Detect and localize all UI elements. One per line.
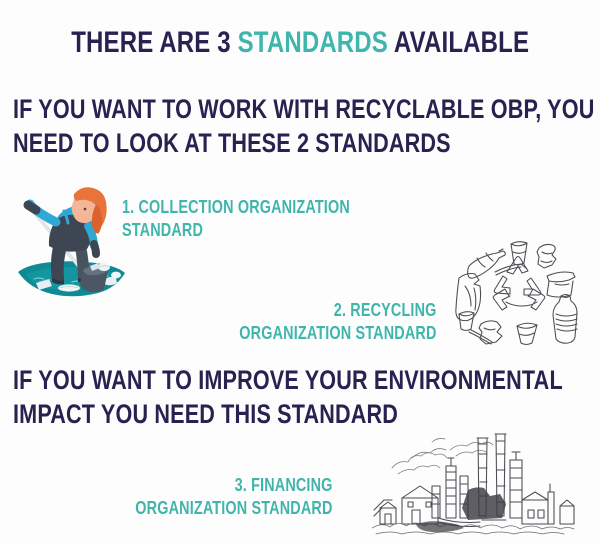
page-title-part2: AVAILABLE <box>388 26 529 59</box>
label-collection-line1: 1. COLLECTION ORGANIZATION <box>122 196 350 219</box>
heading-recyclable-obp: IF YOU WANT TO WORK WITH RECYCLABLE OBP,… <box>13 92 600 160</box>
plastic-tray-sketch <box>547 272 575 297</box>
heading-recyclable-line2: NEED TO LOOK AT THESE 2 STANDARDS <box>13 126 594 160</box>
plastic-cup-sketch-1 <box>511 242 527 265</box>
label-recycling-line2: ORGANIZATION STANDARD <box>240 322 437 345</box>
page-title-accent: STANDARDS <box>237 26 387 59</box>
label-financing-organization-standard: 3. FINANCING ORGANIZATION STANDARD <box>86 474 333 520</box>
heading-environmental-impact: IF YOU WANT TO IMPROVE YOUR ENVIRONMENTA… <box>13 363 600 431</box>
industrial-factory-smokestacks-sketch <box>372 424 594 542</box>
infographic-canvas: THERE ARE 3 STANDARDS AVAILABLE IF YOU W… <box>0 0 600 543</box>
plastic-cup-sketch-3 <box>459 312 474 331</box>
label-financing-line2: ORGANIZATION STANDARD <box>136 497 333 520</box>
recycling-symbol-plastic-waste-sketch <box>443 228 595 350</box>
label-collection-organization-standard: 1. COLLECTION ORGANIZATION STANDARD <box>122 196 407 242</box>
heading-recyclable-line1: IF YOU WANT TO WORK WITH RECYCLABLE OBP,… <box>13 92 594 126</box>
label-recycling-organization-standard: 2. RECYCLING ORGANIZATION STANDARD <box>190 299 437 345</box>
worker-collecting-plastic-illustration <box>12 182 132 304</box>
label-financing-line1: 3. FINANCING <box>136 474 333 497</box>
crushed-bottle-sketch <box>537 244 556 268</box>
page-title-part1: THERE ARE 3 <box>71 26 237 59</box>
label-recycling-line1: 2. RECYCLING <box>240 299 437 322</box>
factory-dark-mass <box>462 487 506 520</box>
label-collection-line2: STANDARD <box>122 219 350 242</box>
ground-line <box>372 523 574 534</box>
plastic-cup-sketch-2 <box>517 323 537 344</box>
page-title: THERE ARE 3 STANDARDS AVAILABLE <box>0 28 600 58</box>
heading-environmental-line1: IF YOU WANT TO IMPROVE YOUR ENVIRONMENTA… <box>13 363 563 397</box>
plastic-bottle-sketch-2 <box>553 295 577 344</box>
page-title-text: THERE ARE 3 STANDARDS AVAILABLE <box>71 28 529 58</box>
base-shadow <box>416 521 464 532</box>
